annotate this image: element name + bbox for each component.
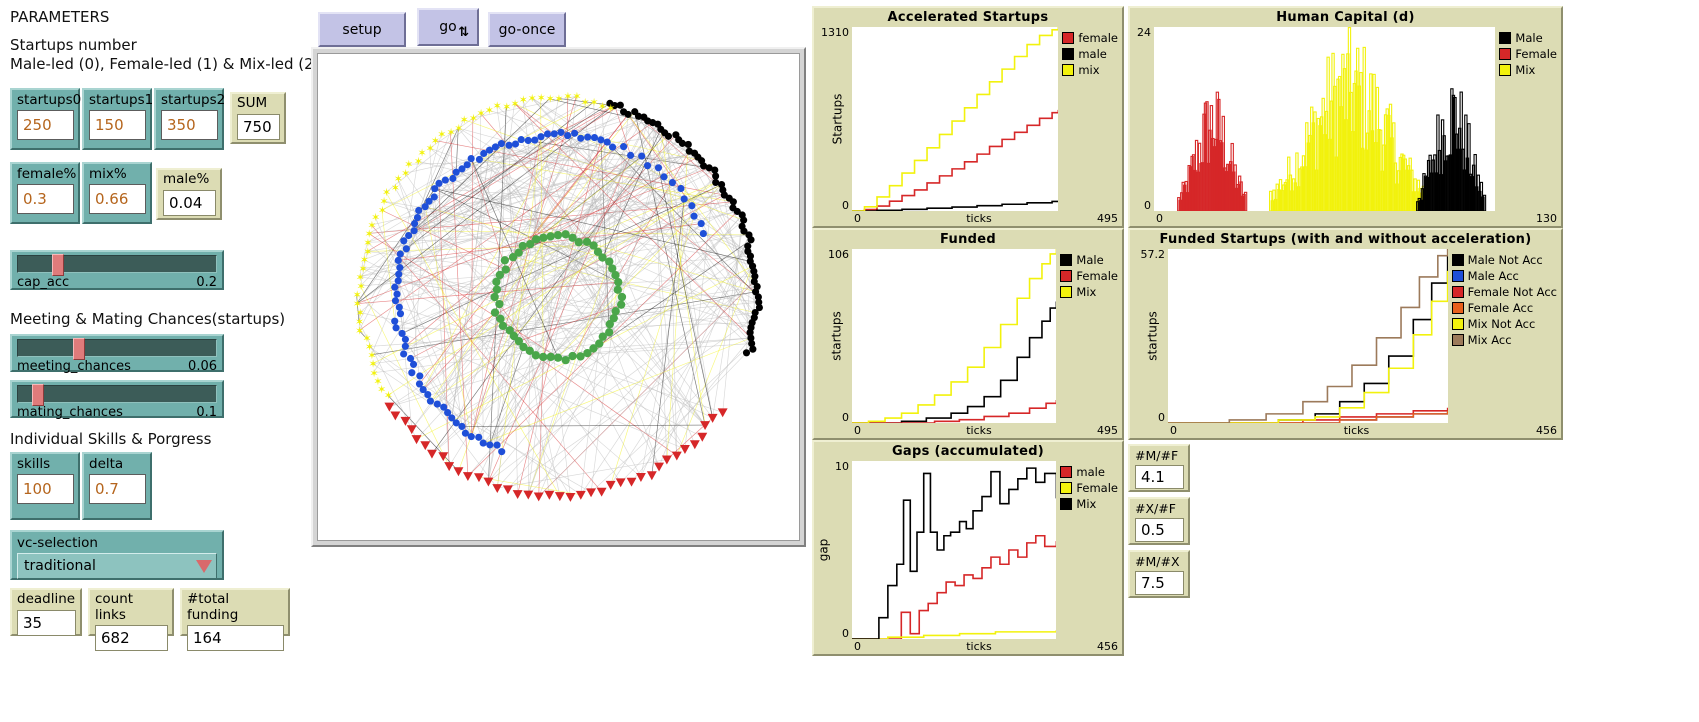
- monitor-m-over-x-label: #M/#X: [1135, 554, 1184, 569]
- input-mix-percent[interactable]: mix% 0.66: [82, 162, 152, 224]
- y-axis-title: startups: [1146, 311, 1160, 360]
- chart-human-capital-plot[interactable]: [1154, 27, 1495, 211]
- y-min-label: 0: [1144, 200, 1151, 211]
- plot-svg: [852, 461, 1056, 639]
- go-button[interactable]: go ⇅: [417, 8, 479, 46]
- forever-loop-icon: ⇅: [458, 25, 469, 40]
- plot-svg: [852, 27, 1058, 211]
- chart-funded: Funded 106 startups 0 Male Female Mix 0 …: [812, 228, 1124, 440]
- monitor-m-over-f-label: #M/#F: [1135, 448, 1184, 463]
- parameters-heading: PARAMETERS: [10, 8, 109, 27]
- input-startups1[interactable]: startups1 150: [82, 88, 152, 150]
- legend-label: Mix Acc: [1468, 333, 1512, 347]
- go-button-label: go: [439, 19, 456, 35]
- legend-swatch-male: [1060, 466, 1072, 478]
- y-max-label: 24: [1137, 27, 1151, 38]
- monitor-total-funding-value: 164: [187, 625, 284, 651]
- input-skills-value[interactable]: 100: [17, 474, 74, 504]
- input-mix-percent-label: mix%: [89, 167, 146, 182]
- y-axis-title: Startups: [830, 94, 844, 145]
- slider-mating-chances-label: mating_chances: [17, 405, 123, 420]
- legend-label: Female: [1076, 481, 1118, 495]
- monitor-count-links-label: count links: [95, 592, 168, 623]
- input-startups1-value[interactable]: 150: [89, 110, 146, 140]
- x-axis-title: ticks: [1344, 424, 1370, 437]
- y-max-label: 106: [828, 249, 849, 260]
- chart-accelerated-startups-plot[interactable]: [852, 27, 1058, 211]
- monitor-m-over-x-value: 7.5: [1135, 571, 1184, 595]
- chart-human-capital: Human Capital (d) 24 0 Male Female Mix 0…: [1128, 6, 1563, 228]
- legend-item: male: [1062, 47, 1118, 61]
- network-graph-svg: ✶✶✶✶✶✶✶✶✶✶✶✶✶✶✶✶✶✶✶✶✶✶✶✶✶✶✶✶✶✶✶✶✶✶✶✶✶✶✶✶…: [318, 54, 799, 540]
- legend-swatch-mix-acc: [1452, 334, 1464, 346]
- legend-swatch-mix: [1060, 286, 1072, 298]
- legend-label: Female: [1076, 269, 1118, 283]
- monitor-male-percent: male% 0.04: [156, 168, 222, 220]
- input-startups0[interactable]: startups0 250: [10, 88, 80, 150]
- monitor-male-percent-label: male%: [163, 172, 216, 188]
- svg-text:✶: ✶: [493, 100, 502, 113]
- plot-svg: [852, 249, 1056, 423]
- legend-item: Male: [1060, 253, 1118, 267]
- legend-label: mix: [1078, 63, 1099, 77]
- chart-funded-xaxis: 0 ticks 495: [814, 423, 1122, 438]
- slider-cap-acc-track[interactable]: [17, 255, 217, 273]
- chart-gaps-xaxis: 0 ticks 456: [814, 639, 1122, 654]
- chart-accelerated-startups-yaxis: 1310 Startups 0: [814, 27, 852, 211]
- legend-item: Mix: [1060, 497, 1118, 511]
- slider-meeting-chances-value: 0.06: [188, 359, 217, 374]
- x-min-label: 0: [854, 424, 861, 437]
- setup-button[interactable]: setup: [318, 12, 406, 47]
- legend-swatch-female: [1060, 482, 1072, 494]
- legend-item: mix: [1062, 63, 1118, 77]
- svg-text:✶: ✶: [554, 92, 563, 105]
- legend-swatch-male-acc: [1452, 270, 1464, 282]
- go-once-button-label: go-once: [499, 22, 556, 38]
- chevron-down-icon[interactable]: [196, 560, 212, 573]
- legend-swatch-male-not-acc: [1452, 254, 1464, 266]
- setup-button-label: setup: [342, 22, 381, 38]
- chart-accelerated-startups-legend: female male mix: [1058, 27, 1122, 211]
- monitor-sum: SUM 750: [230, 92, 286, 144]
- legend-swatch-mix: [1062, 64, 1074, 76]
- slider-mating-chances-value: 0.1: [196, 405, 217, 420]
- y-max-label: 1310: [821, 27, 849, 38]
- chart-gaps-yaxis: 10 gap 0: [814, 461, 852, 639]
- monitor-m-over-f: #M/#F 4.1: [1128, 444, 1190, 492]
- legend-swatch-male: [1499, 32, 1511, 44]
- slider-cap-acc-label: cap_acc: [17, 275, 69, 290]
- legend-label: male: [1076, 465, 1105, 479]
- skills-progress-label: Individual Skills & Porgress: [10, 430, 211, 449]
- go-once-button[interactable]: go-once: [488, 12, 566, 47]
- monitor-x-over-f: #X/#F 0.5: [1128, 497, 1190, 545]
- legend-item: Female Acc: [1452, 301, 1557, 315]
- chart-human-capital-yaxis: 24 0: [1130, 27, 1154, 211]
- input-delta[interactable]: delta 0.7: [82, 452, 152, 520]
- legend-swatch-mix: [1499, 64, 1511, 76]
- legend-label: Male Acc: [1468, 269, 1519, 283]
- legend-label: Mix: [1076, 497, 1096, 511]
- slider-cap-acc[interactable]: cap_acc 0.2: [10, 250, 224, 290]
- legend-item: Female: [1060, 481, 1118, 495]
- input-skills[interactable]: skills 100: [10, 452, 80, 520]
- x-max-label: 130: [1536, 212, 1557, 225]
- chart-accelerated-startups-title: Accelerated Startups: [814, 8, 1122, 27]
- svg-text:✶: ✶: [606, 102, 615, 115]
- x-axis-title: ticks: [966, 640, 992, 653]
- monitor-m-over-f-value: 4.1: [1135, 465, 1184, 489]
- monitor-deadline: deadline 35: [10, 588, 82, 636]
- legend-label: Male Not Acc: [1468, 253, 1543, 267]
- histogram-svg: [1154, 27, 1495, 211]
- x-axis-title: ticks: [966, 424, 992, 437]
- chart-funded-startups-acceleration: Funded Startups (with and without accele…: [1128, 228, 1563, 440]
- monitor-sum-label: SUM: [237, 96, 280, 112]
- monitor-total-funding: #total funding 164: [180, 588, 290, 636]
- x-max-label: 456: [1536, 424, 1557, 437]
- plot-svg: [1168, 249, 1448, 423]
- x-min-label: 0: [1156, 212, 1163, 225]
- legend-item: male: [1060, 465, 1118, 479]
- chart-funded-startups-acceleration-title: Funded Startups (with and without accele…: [1130, 230, 1561, 249]
- input-startups1-label: startups1: [89, 93, 146, 108]
- y-axis-title: gap: [816, 539, 830, 562]
- x-min-label: 0: [854, 212, 861, 225]
- legend-item: Female: [1060, 269, 1118, 283]
- chooser-vc-selection-combo[interactable]: traditional: [17, 553, 217, 579]
- input-mix-percent-value[interactable]: 0.66: [89, 184, 146, 214]
- legend-item: Mix: [1060, 285, 1118, 299]
- legend-swatch-mix: [1060, 498, 1072, 510]
- input-startups2[interactable]: startups2 350: [154, 88, 224, 150]
- slider-mating-chances-thumb[interactable]: [32, 384, 44, 406]
- monitor-deadline-label: deadline: [17, 592, 76, 608]
- y-axis-title: startups: [830, 311, 844, 360]
- monitor-sum-value: 750: [237, 114, 280, 140]
- legend-item: Mix Not Acc: [1452, 317, 1557, 331]
- legend-swatch-female-acc: [1452, 302, 1464, 314]
- legend-label: Male: [1076, 253, 1103, 267]
- slider-meeting-chances-label: meeting_chances: [17, 359, 131, 374]
- x-min-label: 0: [1170, 424, 1177, 437]
- legend-swatch-female: [1499, 48, 1511, 60]
- svg-text:✶: ✶: [563, 90, 572, 103]
- network-visualization[interactable]: ✶✶✶✶✶✶✶✶✶✶✶✶✶✶✶✶✶✶✶✶✶✶✶✶✶✶✶✶✶✶✶✶✶✶✶✶✶✶✶✶…: [317, 53, 800, 541]
- legend-swatch-mix-not-acc: [1452, 318, 1464, 330]
- y-min-label: 0: [842, 412, 849, 423]
- monitor-count-links-value: 682: [95, 625, 168, 651]
- legend-item: Mix: [1499, 63, 1557, 77]
- slider-meeting-chances-track[interactable]: [17, 339, 217, 357]
- legend-label: Mix Not Acc: [1468, 317, 1536, 331]
- y-max-label: 10: [835, 461, 849, 472]
- legend-item: Male Acc: [1452, 269, 1557, 283]
- input-female-percent-value[interactable]: 0.3: [17, 184, 74, 214]
- input-delta-value[interactable]: 0.7: [89, 474, 146, 504]
- input-delta-label: delta: [89, 457, 146, 472]
- monitor-x-over-f-label: #X/#F: [1135, 501, 1184, 516]
- input-skills-label: skills: [17, 457, 74, 472]
- x-max-label: 495: [1097, 212, 1118, 225]
- chart-gaps-legend: male Female Mix: [1056, 461, 1122, 639]
- legend-label: male: [1078, 47, 1107, 61]
- chart-funded-startups-acceleration-yaxis: 57.2 startups 0: [1130, 249, 1168, 423]
- slider-mating-chances[interactable]: mating_chances 0.1: [10, 380, 224, 418]
- input-female-percent[interactable]: female% 0.3: [10, 162, 80, 224]
- svg-text:✶: ✶: [528, 92, 537, 105]
- svg-text:✶: ✶: [546, 93, 555, 106]
- x-max-label: 456: [1097, 640, 1118, 653]
- monitor-total-funding-label: #total funding: [187, 592, 284, 623]
- input-startups0-value[interactable]: 250: [17, 110, 74, 140]
- legend-label: Female: [1515, 47, 1557, 61]
- slider-meeting-chances[interactable]: meeting_chances 0.06: [10, 334, 224, 372]
- chart-funded-yaxis: 106 startups 0: [814, 249, 852, 423]
- chooser-vc-selection[interactable]: vc-selection traditional: [10, 530, 224, 580]
- chart-funded-startups-acceleration-xaxis: 0 ticks 456: [1130, 423, 1561, 438]
- input-startups2-label: startups2: [161, 93, 218, 108]
- legend-label: Female Not Acc: [1468, 285, 1557, 299]
- chart-human-capital-legend: Male Female Mix: [1495, 27, 1561, 211]
- legend-item: Female Not Acc: [1452, 285, 1557, 299]
- chart-gaps: Gaps (accumulated) 10 gap 0 male Female …: [812, 440, 1124, 656]
- svg-text:✶: ✶: [460, 113, 469, 126]
- legend-label: Mix: [1515, 63, 1535, 77]
- input-startups0-label: startups0: [17, 93, 74, 108]
- legend-swatch-male: [1060, 254, 1072, 266]
- svg-text:✶: ✶: [537, 92, 546, 105]
- svg-text:✶: ✶: [581, 96, 590, 109]
- y-max-label: 57.2: [1141, 249, 1166, 260]
- legend-swatch-female: [1060, 270, 1072, 282]
- chart-funded-startups-acceleration-legend: Male Not Acc Male Acc Female Not Acc Fem…: [1448, 249, 1561, 423]
- monitor-m-over-x: #M/#X 7.5: [1128, 550, 1190, 598]
- input-female-percent-label: female%: [17, 167, 74, 182]
- startups-number-label: Startups number Male-led (0), Female-led…: [10, 36, 320, 74]
- slider-mating-chances-track[interactable]: [17, 385, 217, 403]
- x-max-label: 495: [1097, 424, 1118, 437]
- legend-label: Female Acc: [1468, 301, 1534, 315]
- slider-cap-acc-thumb[interactable]: [52, 254, 64, 276]
- legend-swatch-male: [1062, 48, 1074, 60]
- legend-swatch-female-not-acc: [1452, 286, 1464, 298]
- legend-label: Male: [1515, 31, 1542, 45]
- chart-accelerated-startups: Accelerated Startups 1310 Startups 0 fem…: [812, 6, 1124, 228]
- x-min-label: 0: [854, 640, 861, 653]
- chooser-vc-selection-value: traditional: [24, 558, 96, 574]
- x-axis-title: ticks: [966, 212, 992, 225]
- chart-funded-startups-acceleration-plot[interactable]: [1168, 249, 1448, 423]
- y-min-label: 0: [842, 200, 849, 211]
- y-min-label: 0: [842, 628, 849, 639]
- legend-item: Mix Acc: [1452, 333, 1557, 347]
- svg-text:✶: ✶: [519, 93, 528, 106]
- legend-item: Male: [1499, 31, 1557, 45]
- chart-funded-plot[interactable]: [852, 249, 1056, 423]
- svg-text:✶: ✶: [404, 158, 413, 171]
- chart-human-capital-xaxis: 0 130: [1130, 211, 1561, 226]
- input-startups2-value[interactable]: 350: [161, 110, 218, 140]
- slider-meeting-chances-thumb[interactable]: [73, 338, 85, 360]
- svg-text:✶: ✶: [382, 186, 391, 199]
- chart-accelerated-startups-xaxis: 0 ticks 495: [814, 211, 1122, 226]
- y-min-label: 0: [1158, 412, 1165, 423]
- monitor-x-over-f-value: 0.5: [1135, 518, 1184, 542]
- monitor-male-percent-value: 0.04: [163, 190, 216, 216]
- legend-item: Female: [1499, 47, 1557, 61]
- legend-item: Male Not Acc: [1452, 253, 1557, 267]
- legend-swatch-female: [1062, 32, 1074, 44]
- chart-funded-title: Funded: [814, 230, 1122, 249]
- slider-cap-acc-value: 0.2: [196, 275, 217, 290]
- svg-text:✶: ✶: [437, 128, 446, 141]
- chart-human-capital-title: Human Capital (d): [1130, 8, 1561, 27]
- legend-item: female: [1062, 31, 1118, 45]
- legend-label: female: [1078, 31, 1118, 45]
- meeting-mating-label: Meeting & Mating Chances(startups): [10, 310, 285, 329]
- parameters-panel: PARAMETERS Startups number Male-led (0),…: [0, 0, 330, 722]
- chart-gaps-title: Gaps (accumulated): [814, 442, 1122, 461]
- world-view-container[interactable]: ✶✶✶✶✶✶✶✶✶✶✶✶✶✶✶✶✶✶✶✶✶✶✶✶✶✶✶✶✶✶✶✶✶✶✶✶✶✶✶✶…: [311, 47, 806, 547]
- monitor-count-links: count links 682: [88, 588, 174, 636]
- chooser-vc-selection-label: vc-selection: [17, 535, 217, 551]
- chart-funded-legend: Male Female Mix: [1056, 249, 1122, 423]
- legend-label: Mix: [1076, 285, 1096, 299]
- chart-gaps-plot[interactable]: [852, 461, 1056, 639]
- monitor-deadline-value: 35: [17, 610, 76, 636]
